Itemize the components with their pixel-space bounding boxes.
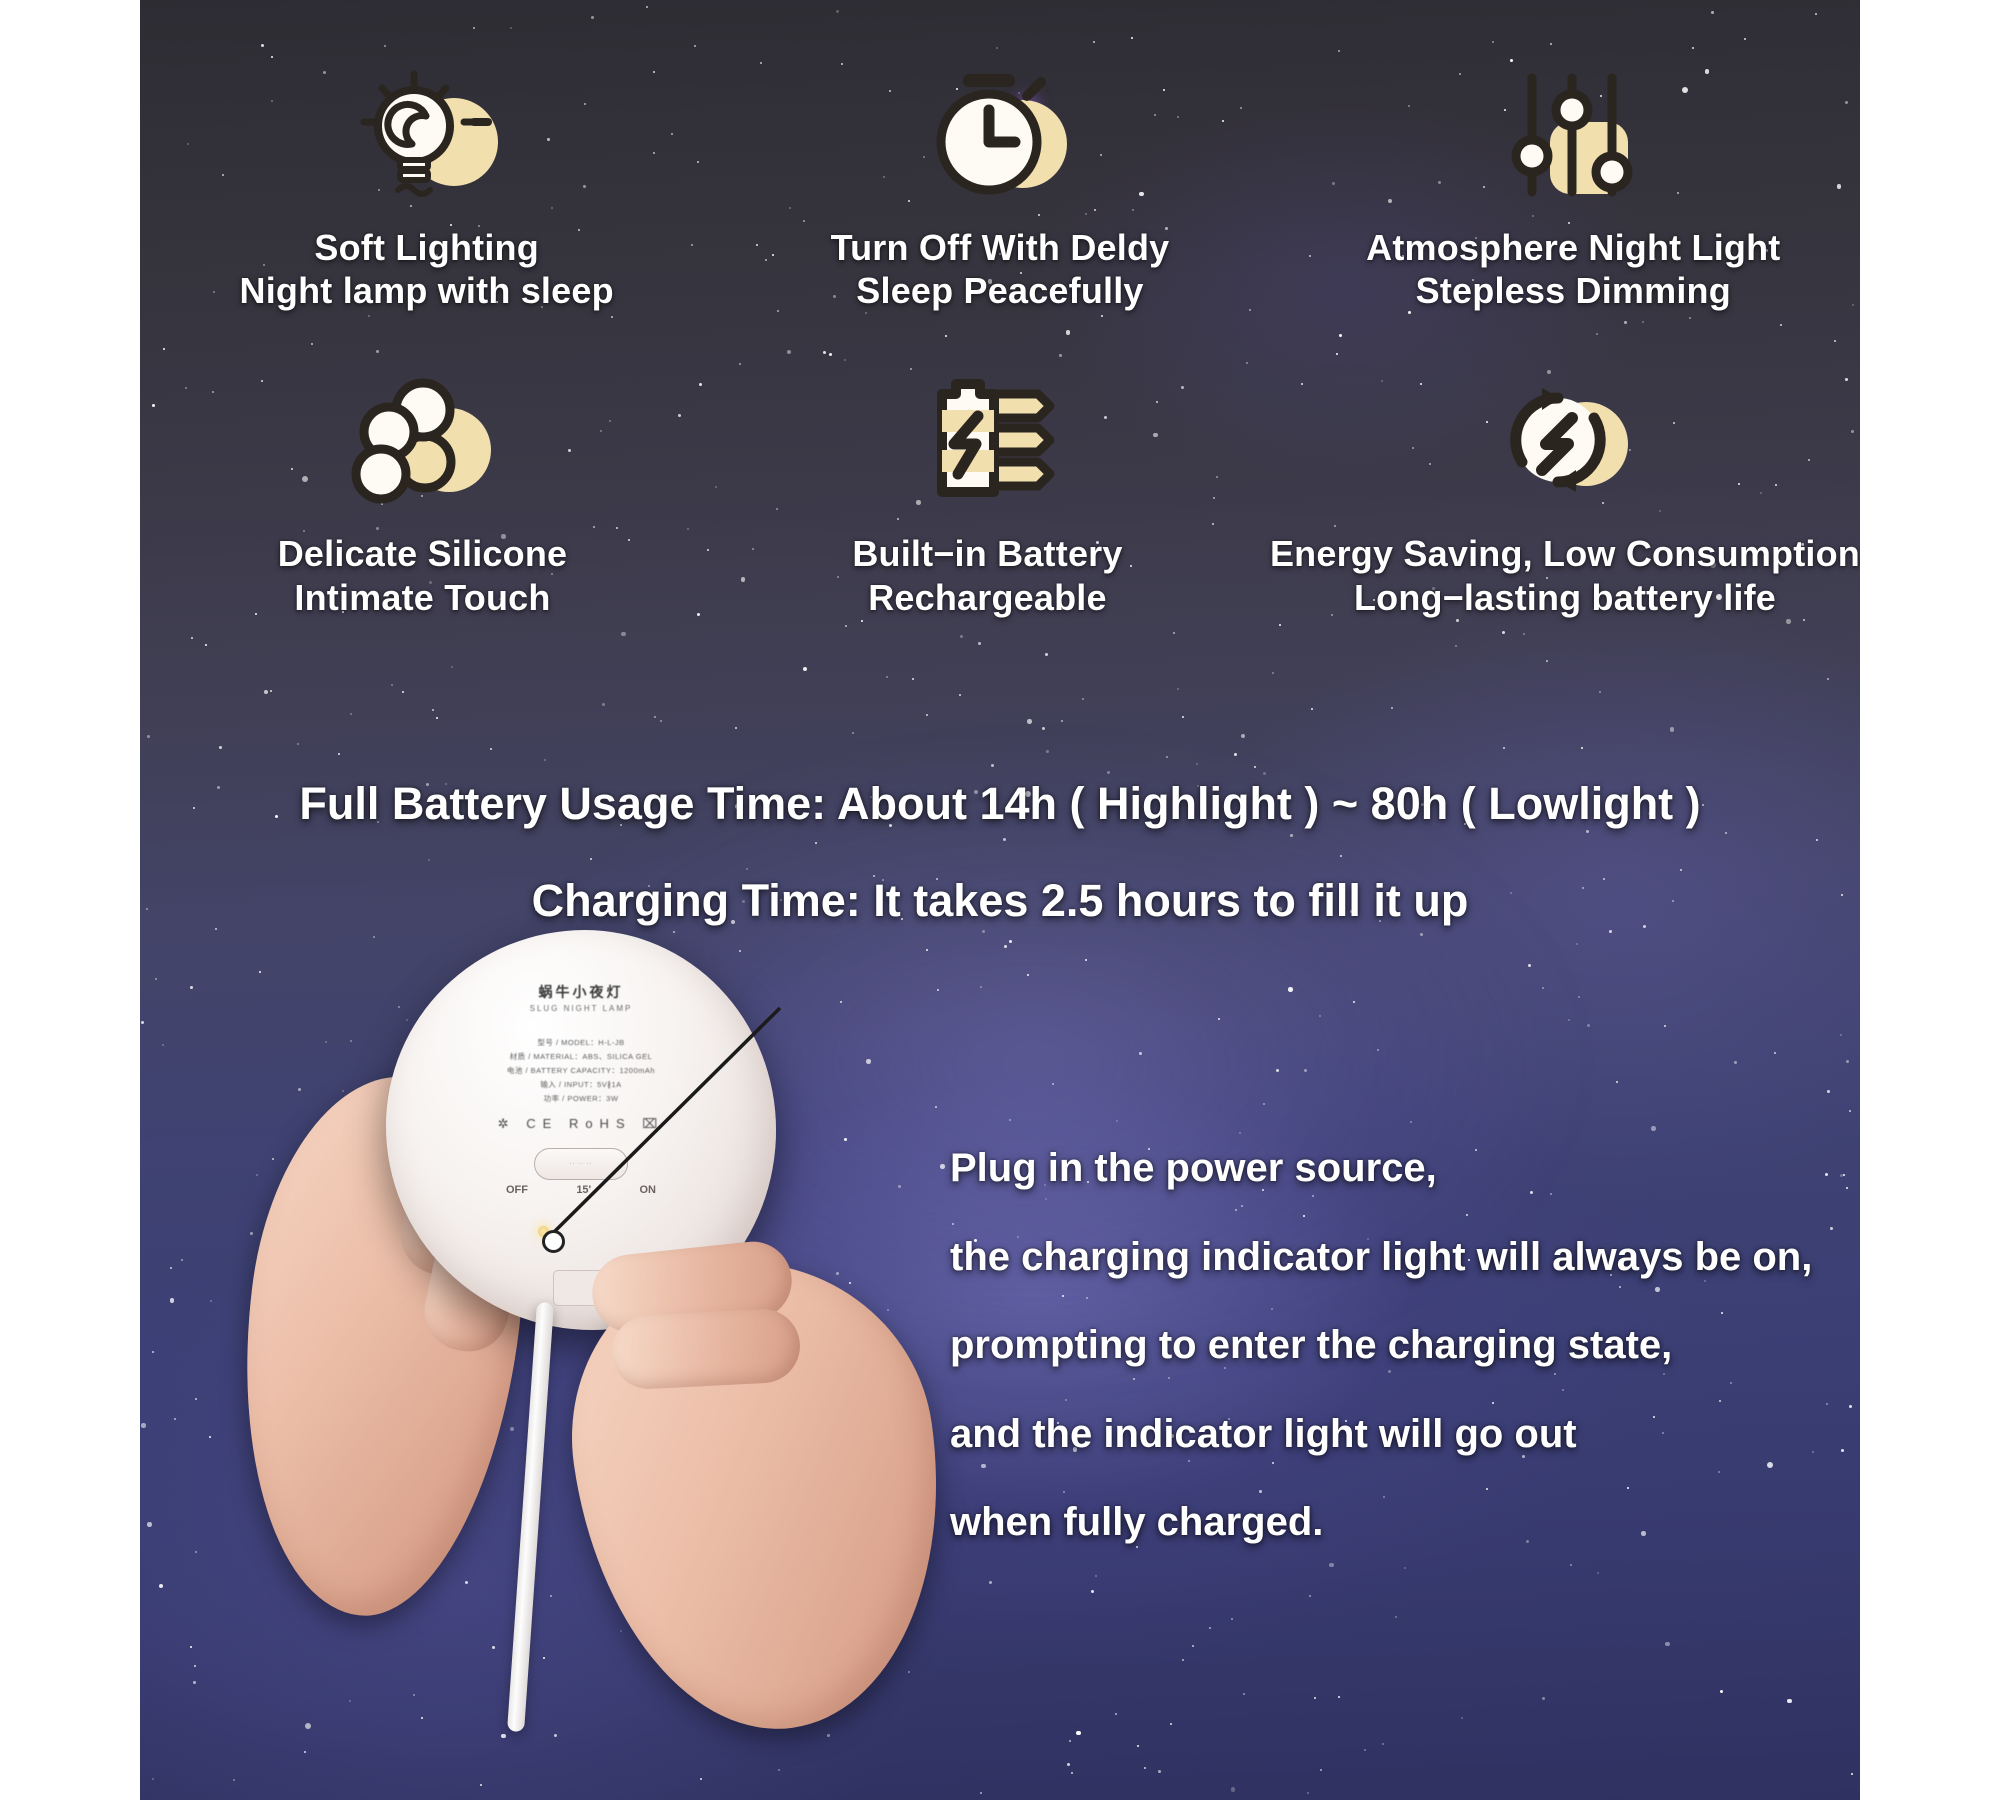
- switch-dots: ·· ·· ··: [535, 1149, 627, 1179]
- feature-caption: Atmosphere Night Light Stepless Dimming: [1366, 226, 1780, 312]
- feature-item-energy-saving: Energy Saving, Low Consumption Long−last…: [1270, 356, 1860, 618]
- feature-line-1: Atmosphere Night Light: [1366, 226, 1780, 269]
- feature-caption: Soft Lighting Night lamp with sleep: [240, 226, 614, 312]
- feature-line-2: Stepless Dimming: [1366, 269, 1780, 312]
- feature-line-2: Long−lasting battery life: [1270, 576, 1860, 619]
- switch-label-off: OFF: [506, 1184, 528, 1196]
- spec-battery: 电池 / BATTERY CAPACITY：1200mAh: [386, 1064, 776, 1078]
- device-title-en: SLUG NIGHT LAMP: [386, 1004, 776, 1013]
- stopwatch-timer-icon: [915, 50, 1085, 220]
- feature-item-delicate-silicone: Delicate Silicone Intimate Touch: [140, 356, 705, 618]
- spec-material: 材质 / MATERIAL：ABS、SILICA GEL: [386, 1050, 776, 1064]
- feature-item-soft-lighting: Soft Lighting Night lamp with sleep: [140, 50, 713, 312]
- feature-caption: Turn Off With Deldy Sleep Peacefully: [831, 226, 1170, 312]
- product-photo: 蜗牛小夜灯 SLUG NIGHT LAMP 型号 / MODEL：H-L-JB …: [220, 930, 1060, 1800]
- feature-item-builtin-battery: Built−in Battery Rechargeable: [705, 356, 1270, 618]
- switch-label-timer: 15': [576, 1184, 591, 1196]
- spec-power: 功率 / POWER：3W: [386, 1092, 776, 1106]
- poster-canvas: Soft Lighting Night lamp with sleep: [140, 0, 1860, 1800]
- charging-line-5: when fully charged.: [950, 1502, 1830, 1544]
- feature-caption: Delicate Silicone Intimate Touch: [278, 532, 568, 618]
- charging-line-3: prompting to enter the charging state,: [950, 1325, 1830, 1367]
- callout-anchor-dot: [542, 1230, 565, 1253]
- feature-caption: Built−in Battery Rechargeable: [852, 532, 1122, 618]
- feature-caption: Energy Saving, Low Consumption Long−last…: [1270, 532, 1860, 618]
- feature-item-stepless-dimming: Atmosphere Night Light Stepless Dimming: [1287, 50, 1860, 312]
- usb-cable: [507, 1302, 554, 1732]
- feature-grid: Soft Lighting Night lamp with sleep: [140, 50, 1860, 619]
- feature-item-turn-off-delay: Turn Off With Deldy Sleep Peacefully: [713, 50, 1286, 312]
- battery-bolt-icon: [902, 356, 1072, 526]
- silicone-bubbles-icon: [337, 356, 507, 526]
- feature-line-1: Delicate Silicone: [278, 532, 568, 575]
- finger: [610, 1307, 802, 1391]
- certification-marks: ✲ CE RoHS ⌧: [386, 1116, 776, 1132]
- device-spec-list: 型号 / MODEL：H-L-JB 材质 / MATERIAL：ABS、SILI…: [386, 1036, 776, 1105]
- feature-row-2: Delicate Silicone Intimate Touch: [140, 356, 1860, 618]
- usage-line-battery: Full Battery Usage Time: About 14h ( Hig…: [140, 780, 1860, 827]
- feature-line-1: Soft Lighting: [240, 226, 614, 269]
- recycle-bolt-icon: [1480, 356, 1650, 526]
- spec-input: 输入 / INPUT：5V∦1A: [386, 1078, 776, 1092]
- feature-line-1: Built−in Battery: [852, 532, 1122, 575]
- usage-line-charging: Charging Time: It takes 2.5 hours to fil…: [140, 877, 1860, 924]
- switch-label-on: ON: [639, 1184, 656, 1196]
- charging-line-4: and the indicator light will go out: [950, 1414, 1830, 1456]
- feature-line-2: Night lamp with sleep: [240, 269, 614, 312]
- charging-line-2: the charging indicator light will always…: [950, 1237, 1830, 1279]
- feature-line-2: Sleep Peacefully: [831, 269, 1170, 312]
- feature-line-1: Energy Saving, Low Consumption: [1270, 532, 1860, 575]
- feature-row-1: Soft Lighting Night lamp with sleep: [140, 50, 1860, 312]
- feature-line-2: Intimate Touch: [278, 576, 568, 619]
- device-title-cn: 蜗牛小夜灯: [386, 982, 776, 1002]
- product-infographic-page: Soft Lighting Night lamp with sleep: [0, 0, 2000, 1800]
- charging-line-1: Plug in the power source,: [950, 1148, 1830, 1190]
- feature-line-2: Rechargeable: [852, 576, 1122, 619]
- device-title-block: 蜗牛小夜灯 SLUG NIGHT LAMP: [386, 982, 776, 1013]
- feature-line-1: Turn Off With Deldy: [831, 226, 1170, 269]
- spec-model: 型号 / MODEL：H-L-JB: [386, 1036, 776, 1050]
- usage-time-block: Full Battery Usage Time: About 14h ( Hig…: [140, 780, 1860, 925]
- switch-label-row: OFF 15' ON: [506, 1184, 656, 1196]
- power-switch[interactable]: ·· ·· ··: [534, 1148, 628, 1180]
- charging-instructions: Plug in the power source, the charging i…: [950, 1148, 1830, 1544]
- sliders-dimmer-icon: [1488, 50, 1658, 220]
- moon-bulb-icon: [342, 50, 512, 220]
